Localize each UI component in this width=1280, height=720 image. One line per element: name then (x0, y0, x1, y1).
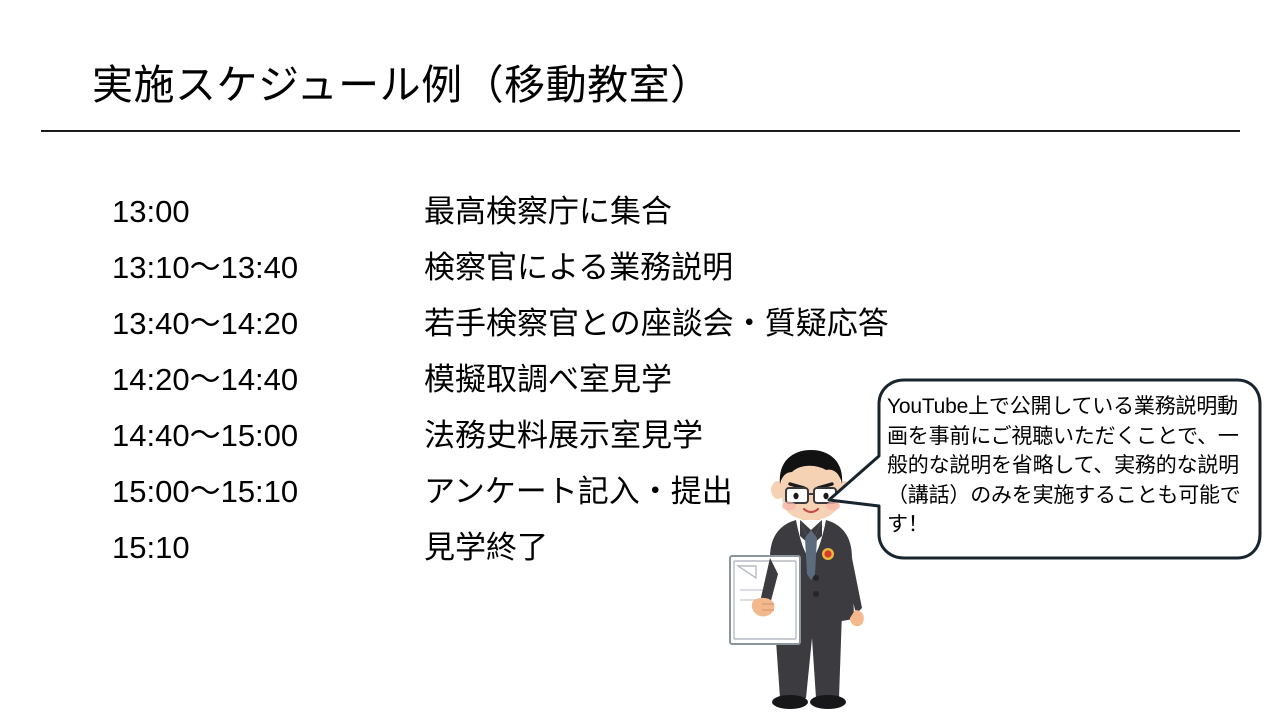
jacket-button-bottom (813, 591, 819, 597)
schedule-description: 若手検察官との座談会・質疑応答 (424, 296, 889, 352)
schedule-time: 14:20～14:40 (112, 352, 424, 408)
lapel-badge-center (824, 550, 831, 557)
eye-right (823, 493, 828, 499)
slide-canvas: 実施スケジュール例（移動教室） 13:00 最高検察庁に集合 13:10～13:… (0, 0, 1280, 720)
schedule-description: 法務史料展示室見学 (424, 408, 703, 464)
table-row: 14:20～14:40 模擬取調べ室見学 (112, 352, 812, 408)
table-row: 13:40～14:20 若手検察官との座談会・質疑応答 (112, 296, 812, 352)
table-row: 14:40～15:00 法務史料展示室見学 (112, 408, 812, 464)
table-row: 13:00 最高検察庁に集合 (112, 184, 812, 240)
schedule-time: 15:00～15:10 (112, 464, 424, 520)
eye-left (793, 493, 798, 499)
schedule-description: 見学終了 (424, 520, 548, 576)
title-divider (41, 130, 1240, 132)
table-row: 15:00～15:10 アンケート記入・提出 (112, 464, 812, 520)
schedule-time: 15:10 (112, 520, 424, 576)
schedule-description: 模擬取調べ室見学 (424, 352, 672, 408)
schedule-time: 14:40～15:00 (112, 408, 424, 464)
cheek-left (782, 502, 796, 511)
schedule-description: 最高検察庁に集合 (424, 184, 672, 240)
speech-bubble: YouTube上で公開している業務説明動画を事前にご視聴いただくことで、一般的な… (857, 378, 1262, 560)
bubble-text: YouTube上で公開している業務説明動画を事前にご視聴いただくことで、一般的な… (887, 392, 1247, 540)
table-row: 13:10～13:40 検察官による業務説明 (112, 240, 812, 296)
shoe-left (772, 695, 808, 709)
cheek-right (826, 502, 840, 511)
jacket-button-top (813, 575, 819, 581)
table-row: 15:10 見学終了 (112, 520, 812, 576)
schedule-description: 検察官による業務説明 (424, 240, 733, 296)
schedule-description: アンケート記入・提出 (424, 464, 733, 520)
schedule-time: 13:10～13:40 (112, 240, 424, 296)
schedule-table: 13:00 最高検察庁に集合 13:10～13:40 検察官による業務説明 13… (112, 184, 812, 576)
schedule-time: 13:40～14:20 (112, 296, 424, 352)
shoe-right (810, 695, 846, 709)
schedule-time: 13:00 (112, 184, 424, 240)
page-title: 実施スケジュール例（移動教室） (92, 62, 712, 109)
